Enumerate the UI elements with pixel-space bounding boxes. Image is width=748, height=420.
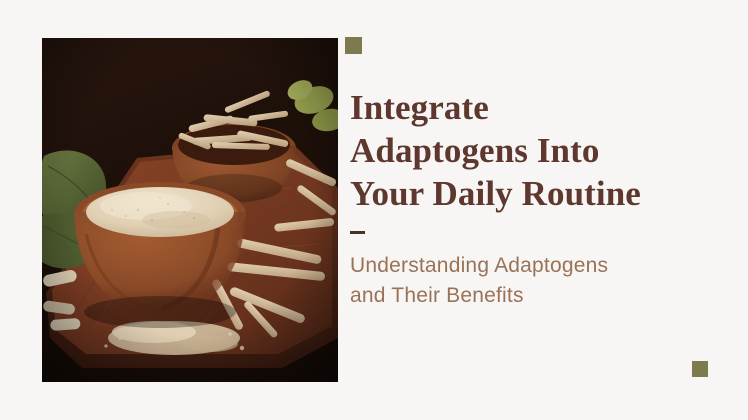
top-accent-square — [345, 37, 362, 54]
hero-photo-artwork — [42, 38, 338, 382]
hero-photo — [42, 38, 338, 382]
page-subtitle: Understanding Adaptogens and Their Benef… — [350, 251, 690, 311]
bottom-accent-square — [692, 361, 708, 377]
subtitle-line-1: Understanding Adaptogens — [350, 254, 608, 277]
subtitle-line-2: and Their Benefits — [350, 284, 524, 307]
hero-text-column: Integrate Adaptogens Into Your Daily Rou… — [350, 86, 730, 311]
headline-line-1: Integrate — [350, 88, 489, 127]
title-divider — [350, 231, 365, 234]
headline-line-3: Your Daily Routine — [350, 174, 641, 213]
headline-line-2: Adaptogens Into — [350, 131, 599, 170]
page-title: Integrate Adaptogens Into Your Daily Rou… — [350, 86, 730, 215]
